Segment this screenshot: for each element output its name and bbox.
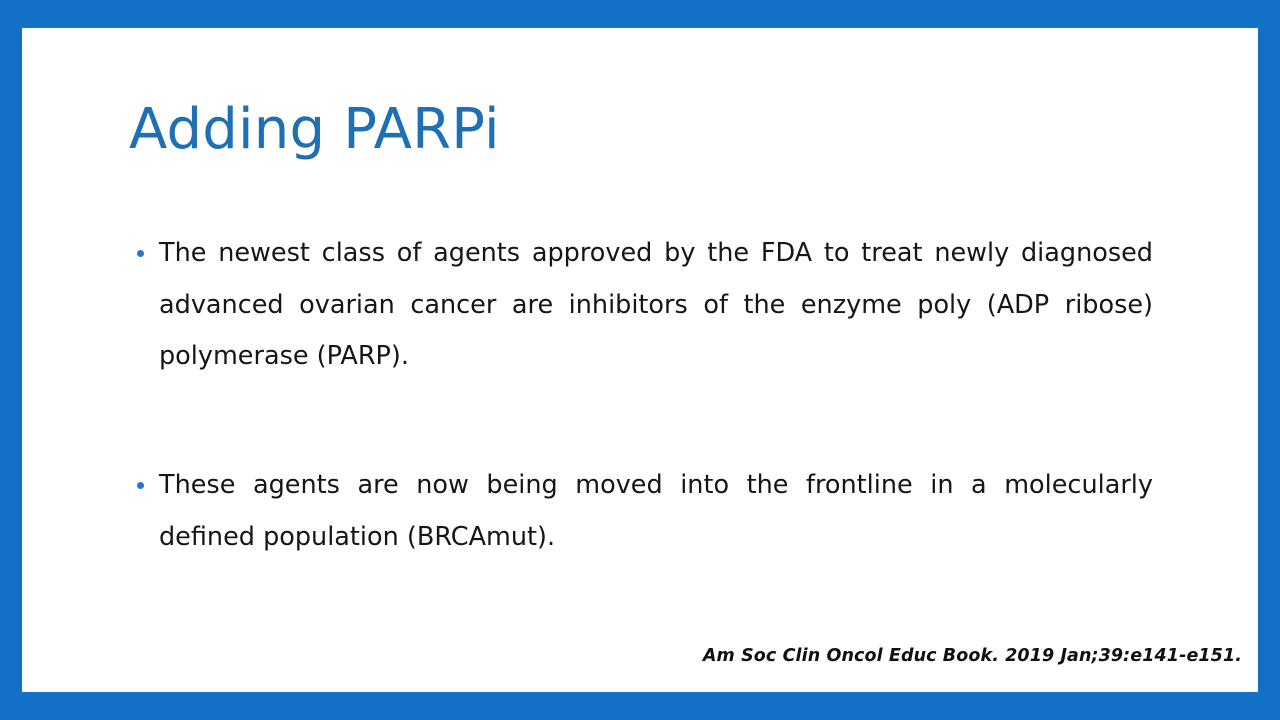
citation-reference: Am Soc Clin Oncol Educ Book. 2019 Jan;39… [703,646,1242,666]
slide-frame: Adding PARPi The newest class of agents … [0,0,1280,720]
page-title: Adding PARPi [129,98,500,162]
list-item-text: The newest class of agents approved by t… [159,228,1153,383]
list-item-text: These agents are now being moved into th… [159,460,1153,563]
bullet-point-icon [137,250,144,257]
bullet-list: The newest class of agents approved by t… [129,228,1153,615]
bullet-point-icon [137,482,144,489]
list-item: These agents are now being moved into th… [129,460,1153,615]
slide-content-area: Adding PARPi The newest class of agents … [22,28,1258,692]
list-item: The newest class of agents approved by t… [129,228,1153,434]
